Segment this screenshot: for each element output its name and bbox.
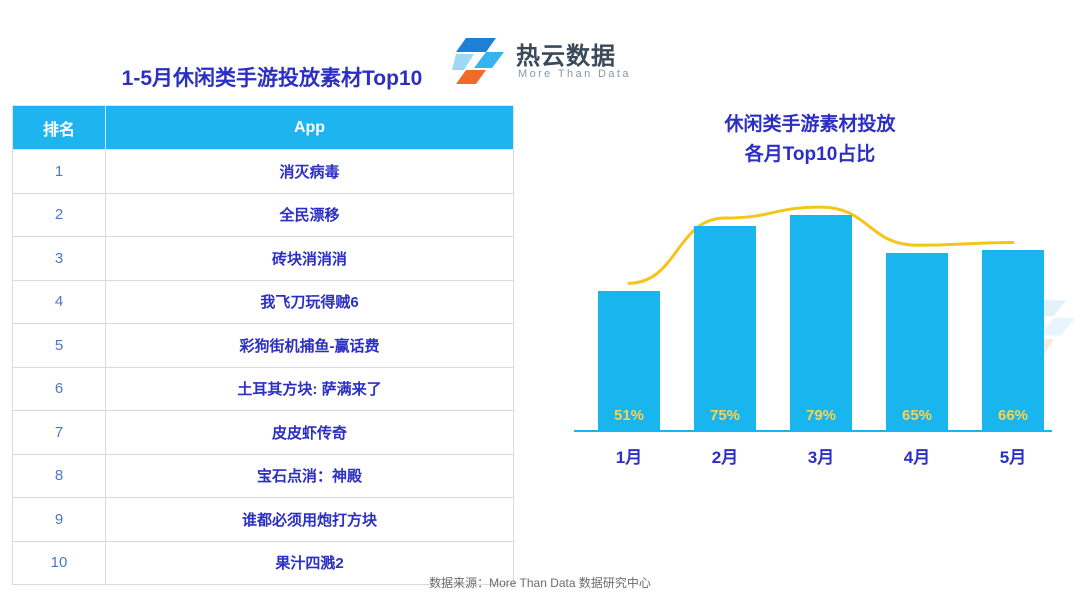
x-axis	[574, 430, 1052, 432]
chart-title-line2: 各月Top10占比	[540, 140, 1080, 170]
bar	[982, 250, 1044, 430]
table-cell-app: 消灭病毒	[106, 150, 514, 194]
table-header-rank: 排名	[13, 106, 106, 150]
table-cell-app: 砖块消消消	[106, 237, 514, 281]
x-axis-label: 5月	[982, 443, 1044, 468]
bar	[790, 215, 852, 430]
table-row: 4我飞刀玩得贼6	[13, 280, 514, 324]
table-header-row: 排名 App	[13, 106, 514, 150]
bar-value-label: 66%	[982, 407, 1044, 424]
chart-title-line1: 休闲类手游素材投放	[540, 110, 1080, 140]
table-cell-rank: 1	[13, 150, 106, 194]
bar	[886, 253, 948, 430]
table-cell-app: 我飞刀玩得贼6	[106, 280, 514, 324]
bar-value-label: 51%	[598, 407, 660, 424]
table-row: 2全民漂移	[13, 193, 514, 237]
table-row: 3砖块消消消	[13, 237, 514, 281]
table-row: 8宝石点消：神殿	[13, 454, 514, 498]
table-header-app: App	[106, 106, 514, 150]
table-cell-app: 皮皮虾传奇	[106, 411, 514, 455]
table-cell-rank: 4	[13, 280, 106, 324]
chart-title: 休闲类手游素材投放 各月Top10占比	[540, 110, 1080, 170]
table-row: 1消灭病毒	[13, 150, 514, 194]
x-axis-label: 2月	[694, 443, 756, 468]
table-cell-app: 宝石点消：神殿	[106, 454, 514, 498]
bar-value-label: 65%	[886, 407, 948, 424]
right-panel: 休闲类手游素材投放 各月Top10占比 热云数据 More Than Data …	[540, 0, 1080, 608]
table-cell-rank: 2	[13, 193, 106, 237]
table-cell-rank: 3	[13, 237, 106, 281]
table-cell-rank: 6	[13, 367, 106, 411]
table-cell-app: 全民漂移	[106, 193, 514, 237]
table-cell-rank: 7	[13, 411, 106, 455]
bar-value-label: 75%	[694, 407, 756, 424]
table-cell-app: 谁都必须用炮打方块	[106, 498, 514, 542]
table-row: 6土耳其方块: 萨满来了	[13, 367, 514, 411]
bar-chart: 51%1月75%2月79%3月65%4月66%5月	[540, 180, 1080, 540]
source-note: 数据来源：More Than Data 数据研究中心	[0, 574, 1080, 591]
table-cell-rank: 9	[13, 498, 106, 542]
x-axis-label: 4月	[886, 443, 948, 468]
bar-value-label: 79%	[790, 407, 852, 424]
table-row: 5彩狗街机捕鱼-赢话费	[13, 324, 514, 368]
x-axis-label: 3月	[790, 443, 852, 468]
table-body: 1消灭病毒2全民漂移3砖块消消消4我飞刀玩得贼65彩狗街机捕鱼-赢话费6土耳其方…	[13, 150, 514, 585]
table-cell-rank: 8	[13, 454, 106, 498]
table-cell-app: 土耳其方块: 萨满来了	[106, 367, 514, 411]
bar	[694, 226, 756, 430]
ranking-table: 排名 App 1消灭病毒2全民漂移3砖块消消消4我飞刀玩得贼65彩狗街机捕鱼-赢…	[12, 105, 514, 585]
table-row: 7皮皮虾传奇	[13, 411, 514, 455]
x-axis-label: 1月	[598, 443, 660, 468]
table-cell-app: 彩狗街机捕鱼-赢话费	[106, 324, 514, 368]
table-row: 9谁都必须用炮打方块	[13, 498, 514, 542]
page-title: 1-5月休闲类手游投放素材Top10	[32, 62, 512, 92]
table-cell-rank: 5	[13, 324, 106, 368]
logo-mark-icon	[452, 34, 508, 86]
